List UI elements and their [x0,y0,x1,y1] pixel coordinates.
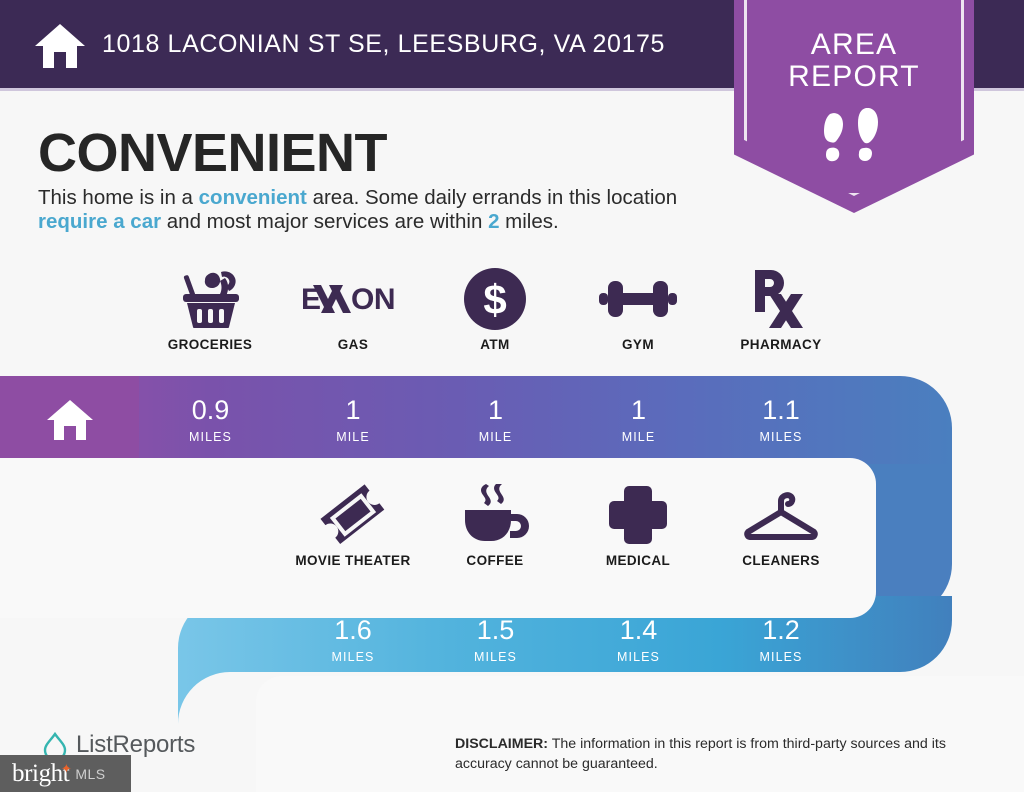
hero-description: This home is in a convenient area. Some … [38,186,728,234]
badge-title-line1: AREA [734,28,974,62]
hero-text: miles. [499,210,558,233]
service-label: GYM [567,337,709,352]
distance-value: 1.5 [477,617,515,644]
distance-unit: MILES [617,650,660,664]
service-label: PHARMACY [710,337,852,352]
distance-cell-pharmacy: 1.1 MILES [710,376,852,464]
distance-unit: MILES [331,650,374,664]
medical-cross-icon [567,484,709,546]
footprints-icon [816,108,892,166]
dumbbell-icon [567,268,709,330]
home-icon [46,398,94,442]
distance-value: 0.9 [192,397,230,424]
distance-unit: MILES [759,650,802,664]
service-pharmacy: PHARMACY [710,268,852,352]
distance-cell-atm: 1 MILE [424,376,567,464]
service-icon-row-1: GROCERIES E ON GAS $ ATM [0,268,1024,372]
hero-text: area. Some daily errands in this locatio… [307,186,677,209]
coffee-cup-icon [424,484,566,546]
service-label: MEDICAL [567,553,709,568]
hero-highlight: require a car [38,210,161,233]
bright-mls-watermark: bright✦ MLS [0,755,131,792]
hero-text: and most major services are within [161,210,488,233]
disclaimer-label: DISCLAIMER: [455,736,548,752]
distance-cell-groceries: 0.9 MILES [139,376,282,464]
disclaimer-text: DISCLAIMER: The information in this repo… [455,734,995,774]
property-address: 1018 LACONIAN ST SE, LEESBURG, VA 20175 [102,30,665,59]
service-label: ATM [424,337,566,352]
distance-value: 1 [345,397,360,424]
hero-text: This home is in a [38,186,199,209]
badge-title-line2: REPORT [734,60,974,94]
distance-value: 1.4 [620,617,658,644]
sparkle-icon: ✦ [61,761,72,777]
distance-cell-gas: 1 MILE [282,376,424,464]
distance-unit: MILE [336,430,370,444]
distance-unit: MILES [189,430,232,444]
page-title: CONVENIENT [38,122,387,184]
svg-text:$: $ [483,276,506,323]
service-groceries: GROCERIES [139,268,281,352]
area-report-page: 1018 LACONIAN ST SE, LEESBURG, VA 20175 … [0,0,1024,792]
distance-value: 1 [631,397,646,424]
grocery-basket-icon [139,268,281,330]
distance-value: 1.6 [334,617,372,644]
service-label: GROCERIES [139,337,281,352]
service-coffee: COFFEE [424,484,566,568]
service-label: COFFEE [424,553,566,568]
dollar-circle-icon: $ [424,268,566,330]
home-icon [34,22,86,70]
distance-value: 1.1 [762,397,800,424]
distance-value: 1 [488,397,503,424]
service-icon-row-2: MOVIE THEATER COFFEE [0,484,1024,588]
hero-highlight: convenient [199,186,307,209]
distance-cell-gym: 1 MILE [567,376,710,464]
distance-unit: MILE [479,430,513,444]
clothes-hanger-icon [710,484,852,546]
distance-unit: MILES [474,650,517,664]
distance-value: 1.2 [762,617,800,644]
svg-text:ON: ON [351,283,395,316]
mls-text: MLS [75,766,105,782]
service-label: CLEANERS [710,553,852,568]
service-label: GAS [282,337,424,352]
exxon-logo-icon: E ON [282,268,424,330]
service-cleaners: CLEANERS [710,484,852,568]
service-atm: $ ATM [424,268,566,352]
bright-wordmark: bright✦ [12,760,69,788]
service-label: MOVIE THEATER [282,553,424,568]
ticket-icon [282,484,424,546]
home-origin-cell [0,376,139,464]
service-gym: GYM [567,268,709,352]
rx-icon [710,268,852,330]
service-medical: MEDICAL [567,484,709,568]
service-gas: E ON GAS [282,268,424,352]
distance-unit: MILES [759,430,802,444]
hero-highlight: 2 [488,210,499,233]
service-movie-theater: MOVIE THEATER [282,484,424,568]
distance-unit: MILE [622,430,656,444]
